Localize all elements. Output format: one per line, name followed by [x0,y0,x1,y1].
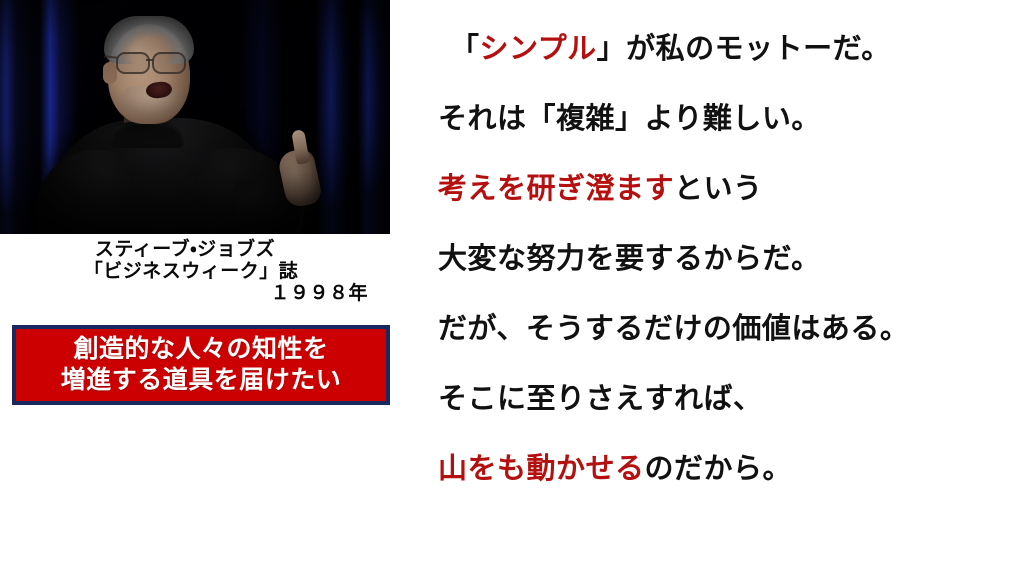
quote-line-3: 考えを研ぎ澄ますという [438,174,1008,204]
quote-line-7: 山をも動かせるのだから。 [438,454,1008,484]
quote-line-1-segment-2-emphasis: シンプル [480,33,597,65]
caption-attribution-year: １９９８年 [0,283,390,305]
quote-line-1-segment-1: 「 [450,33,480,65]
quote-line-7-segment-2: のだから。 [645,453,793,485]
quote-line-4-segment-1: 大変な努力を要するからだ。 [438,243,821,275]
quote-block: 「シンプル」が私のモットーだ。それは「複雑」より難しい。考えを研ぎ澄ますという大… [438,34,1008,484]
quote-line-1-segment-3: 」が私のモットーだ。 [597,33,891,65]
quote-line-4: 大変な努力を要するからだ。 [438,244,1008,274]
photo-vignette [0,0,390,234]
red-callout-banner: 創造的な人々の知性を 増進する道具を届けたい [12,325,390,405]
slide-canvas: スティーブ・ジョブズ 「ビジネスウィーク」誌 １９９８年 創造的な人々の知性を … [0,0,1024,576]
quote-line-7-segment-1-emphasis: 山をも動かせる [438,453,645,485]
quote-line-3-segment-1-emphasis: 考えを研ぎ澄ます [438,173,674,205]
caption-attribution-name: スティーブ・ジョブズ [0,239,390,261]
quote-line-5: だが、そうするだけの価値はある。 [438,314,1008,344]
banner-line-2: 増進する道具を届けたい [61,365,342,396]
quote-line-1: 「シンプル」が私のモットーだ。 [438,34,1008,64]
photo-caption: スティーブ・ジョブズ 「ビジネスウィーク」誌 １９９８年 [0,239,390,305]
quote-line-2: それは「複雑」より難しい。 [438,104,1008,134]
quote-line-3-segment-2: という [674,173,763,205]
quote-line-6: そこに至りさえすれば、 [438,384,1008,414]
left-column: スティーブ・ジョブズ 「ビジネスウィーク」誌 １９９８年 創造的な人々の知性を … [0,0,410,576]
caption-attribution-source: 「ビジネスウィーク」誌 [0,261,390,283]
banner-line-1: 創造的な人々の知性を [73,334,328,365]
quote-line-5-segment-1: だが、そうするだけの価値はある。 [438,313,909,345]
quote-line-2-segment-1: それは「複雑」より難しい。 [438,103,821,135]
quote-line-6-segment-1: そこに至りさえすれば、 [438,383,763,415]
steve-jobs-photo [0,0,390,234]
